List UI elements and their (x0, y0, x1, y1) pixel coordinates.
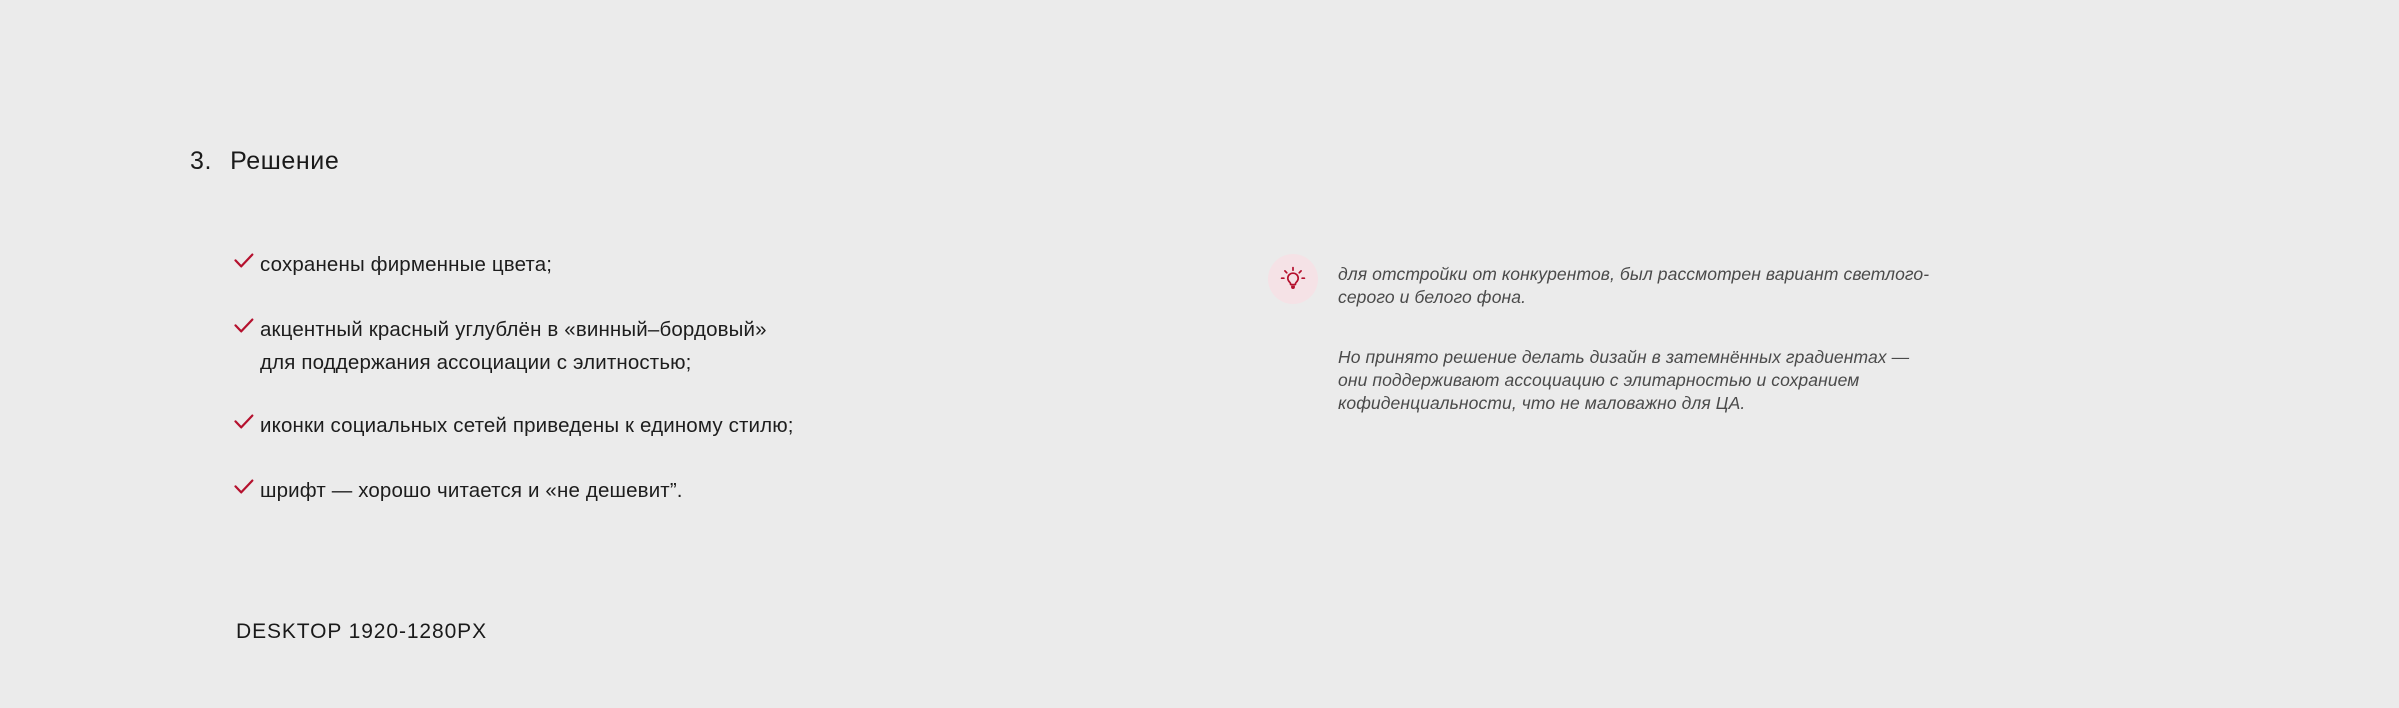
note-paragraph: Но принято решение делать дизайн в затем… (1338, 346, 1929, 415)
list-item-label: сохранены фирменные цвета; (260, 248, 552, 281)
slide-canvas: 3. Решение сохранены фирменные цвета; ак… (0, 0, 2399, 708)
list-item-label: иконки социальных сетей приведены к един… (260, 409, 794, 442)
list-item: иконки социальных сетей приведены к един… (234, 409, 1074, 444)
list-item-label: акцентный красный углублён в «винный–бор… (260, 313, 767, 379)
check-icon (234, 409, 260, 444)
list-item: сохранены фирменные цвета; (234, 248, 1074, 283)
list-item: акцентный красный углублён в «винный–бор… (234, 313, 1074, 379)
check-icon (234, 313, 260, 348)
list-item-label: шрифт — хорошо читается и «не дешевит”. (260, 474, 683, 507)
footer-caption: DESKTOP 1920-1280PX (236, 620, 487, 644)
note-callout: для отстройки от конкурентов, был рассмо… (1268, 252, 2228, 415)
check-icon (234, 474, 260, 509)
check-icon (234, 248, 260, 283)
checklist: сохранены фирменные цвета; акцентный кра… (234, 248, 1074, 509)
note-text-block: для отстройки от конкурентов, был рассмо… (1338, 252, 1929, 415)
note-paragraph: для отстройки от конкурентов, был рассмо… (1338, 263, 1929, 309)
lightbulb-icon (1268, 254, 1318, 304)
section-title: Решение (230, 147, 339, 176)
list-item: шрифт — хорошо читается и «не дешевит”. (234, 474, 1074, 509)
section-number: 3. (190, 147, 212, 176)
page-title: 3. Решение (190, 147, 339, 176)
